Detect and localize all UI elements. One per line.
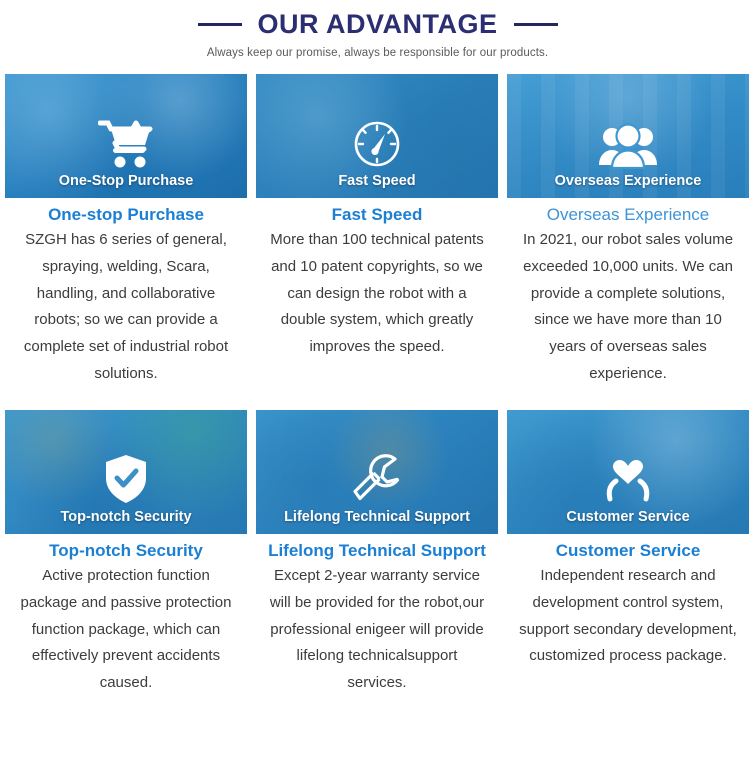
banner-label: Lifelong Technical Support — [284, 509, 470, 525]
card-heading: Lifelong Technical Support — [262, 541, 492, 562]
advantage-card[interactable]: One-Stop Purchase One-stop Purchase SZGH… — [5, 74, 247, 388]
advantage-card[interactable]: Customer Service Customer Service Indepe… — [507, 410, 749, 697]
title-dash-right-icon — [514, 23, 558, 26]
row-spacer — [507, 388, 749, 410]
card-heading: Top-notch Security — [11, 541, 241, 562]
card-heading: Fast Speed — [262, 205, 492, 226]
shopping-cart-icon — [98, 119, 154, 169]
title-row: OUR ADVANTAGE — [0, 10, 755, 40]
section-header: OUR ADVANTAGE Always keep our promise, a… — [0, 0, 755, 59]
advantage-card[interactable]: Overseas Experience Overseas Experience … — [507, 74, 749, 388]
card-body: Fast Speed More than 100 technical paten… — [256, 198, 498, 361]
advantage-card[interactable]: Fast Speed Fast Speed More than 100 tech… — [256, 74, 498, 388]
card-banner[interactable]: Lifelong Technical Support — [256, 410, 498, 534]
card-body: Lifelong Technical Support Except 2-year… — [256, 534, 498, 697]
card-banner[interactable]: Customer Service — [507, 410, 749, 534]
advantage-card[interactable]: Top-notch Security Top-notch Security Ac… — [5, 410, 247, 697]
card-description: Active protection function package and p… — [11, 563, 241, 696]
heart-in-hands-icon — [600, 453, 656, 505]
card-description: In 2021, our robot sales volume exceeded… — [513, 227, 743, 387]
advantage-card[interactable]: Lifelong Technical Support Lifelong Tech… — [256, 410, 498, 697]
card-description: SZGH has 6 series of general, spraying, … — [11, 227, 241, 387]
wrench-icon — [351, 453, 403, 505]
card-heading: Customer Service — [513, 541, 743, 562]
banner-label: Overseas Experience — [555, 173, 702, 189]
row-spacer — [256, 388, 498, 410]
banner-label: Fast Speed — [338, 173, 415, 189]
card-body: Top-notch Security Active protection fun… — [5, 534, 247, 697]
shield-check-icon — [103, 453, 149, 505]
banner-label: One-Stop Purchase — [59, 173, 194, 189]
card-banner[interactable]: Top-notch Security — [5, 410, 247, 534]
card-description: Independent research and development con… — [513, 563, 743, 670]
card-heading: One-stop Purchase — [11, 205, 241, 226]
title-dash-left-icon — [198, 23, 242, 26]
card-body: Overseas Experience In 2021, our robot s… — [507, 198, 749, 388]
card-body: Customer Service Independent research an… — [507, 534, 749, 670]
speedometer-icon — [352, 119, 402, 169]
people-group-icon — [597, 121, 659, 169]
banner-label: Top-notch Security — [60, 509, 191, 525]
card-description: Except 2-year warranty service will be p… — [262, 563, 492, 696]
card-banner[interactable]: Fast Speed — [256, 74, 498, 198]
card-banner[interactable]: One-Stop Purchase — [5, 74, 247, 198]
card-banner[interactable]: Overseas Experience — [507, 74, 749, 198]
page-title: OUR ADVANTAGE — [258, 10, 498, 40]
card-description: More than 100 technical patents and 10 p… — [262, 227, 492, 360]
card-heading: Overseas Experience — [513, 205, 743, 226]
page-subtitle: Always keep our promise, always be respo… — [0, 47, 755, 59]
card-body: One-stop Purchase SZGH has 6 series of g… — [5, 198, 247, 388]
row-spacer — [5, 388, 247, 410]
advantage-cards-grid: One-Stop Purchase One-stop Purchase SZGH… — [0, 59, 755, 697]
banner-label: Customer Service — [566, 509, 689, 525]
